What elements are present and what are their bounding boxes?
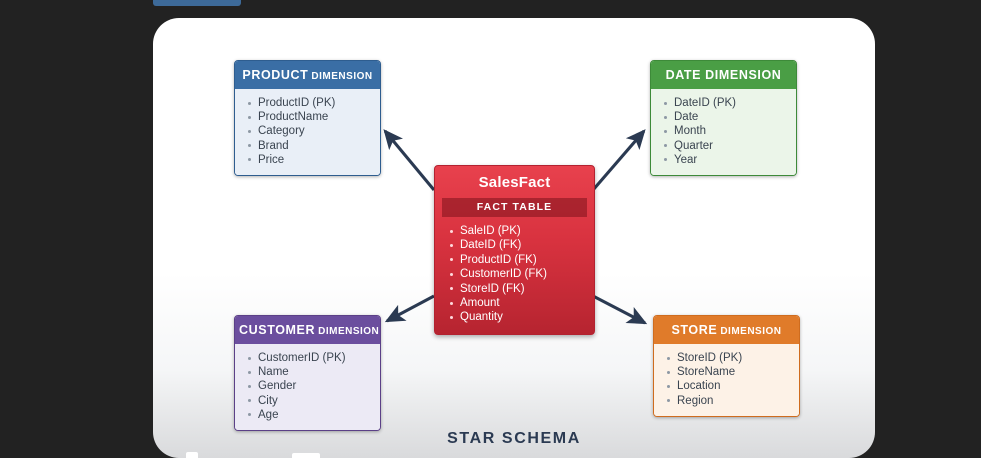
- fact-table-subheader: FACT TABLE: [442, 198, 587, 217]
- clipped-toolbar-tab[interactable]: [153, 0, 241, 6]
- slide-card: PRODUCTDIMENSION ProductID (PK) ProductN…: [153, 18, 875, 458]
- field-item: City: [247, 394, 372, 408]
- diagram-caption: STAR SCHEMA: [153, 430, 875, 448]
- field-item: Age: [247, 408, 372, 422]
- field-item: ProductID (FK): [449, 253, 586, 267]
- dimension-table-date[interactable]: DATE DIMENSION DateID (PK) Date Month Qu…: [650, 60, 797, 176]
- field-item: Brand: [247, 139, 372, 153]
- field-item: DateID (FK): [449, 238, 586, 252]
- field-item: Price: [247, 153, 372, 167]
- field-item: Year: [663, 153, 788, 167]
- field-item: Name: [247, 365, 372, 379]
- fact-table-title: SalesFact: [435, 166, 594, 198]
- field-item: Region: [666, 394, 791, 408]
- dimension-name-customer: CUSTOMER: [239, 323, 315, 337]
- dimension-body-store: StoreID (PK) StoreName Location Region: [654, 344, 799, 416]
- field-item: Gender: [247, 379, 372, 393]
- dimension-table-customer[interactable]: CUSTOMERDIMENSION CustomerID (PK) Name G…: [234, 315, 381, 431]
- dimension-table-product[interactable]: PRODUCTDIMENSION ProductID (PK) ProductN…: [234, 60, 381, 176]
- dimension-header-date: DATE DIMENSION: [651, 61, 796, 89]
- field-item: CustomerID (PK): [247, 351, 372, 365]
- field-item: StoreID (FK): [449, 282, 586, 296]
- dimension-name-store: STORE: [671, 323, 717, 337]
- field-item: ProductID (PK): [247, 96, 372, 110]
- dimension-table-store[interactable]: STOREDIMENSION StoreID (PK) StoreName Lo…: [653, 315, 800, 417]
- field-item: Amount: [449, 296, 586, 310]
- field-item: StoreID (PK): [666, 351, 791, 365]
- clipped-bottom-shape-right: [292, 453, 320, 458]
- field-item: DateID (PK): [663, 96, 788, 110]
- clipped-bottom-shape-left: [186, 452, 198, 458]
- dimension-body-date: DateID (PK) Date Month Quarter Year: [651, 89, 796, 175]
- connector-fact-to-customer: [387, 296, 434, 321]
- field-item: Category: [247, 124, 372, 138]
- field-item: Quantity: [449, 310, 586, 324]
- dimension-body-customer: CustomerID (PK) Name Gender City Age: [235, 344, 380, 430]
- fact-table-salesfact[interactable]: SalesFact FACT TABLE SaleID (PK) DateID …: [434, 165, 595, 335]
- field-item: ProductName: [247, 110, 372, 124]
- dimension-name-date: DATE DIMENSION: [666, 68, 782, 82]
- dimension-header-store: STOREDIMENSION: [654, 316, 799, 344]
- dimension-suffix-store: DIMENSION: [720, 326, 781, 337]
- connector-fact-to-product: [385, 131, 434, 190]
- connector-fact-to-store: [593, 296, 645, 323]
- field-item: SaleID (PK): [449, 224, 586, 238]
- dimension-suffix-product: DIMENSION: [311, 71, 372, 82]
- field-item: Date: [663, 110, 788, 124]
- dimension-suffix-customer: DIMENSION: [318, 326, 379, 337]
- dimension-header-product: PRODUCTDIMENSION: [235, 61, 380, 89]
- fact-table-body: SaleID (PK) DateID (FK) ProductID (FK) C…: [435, 217, 594, 334]
- field-item: StoreName: [666, 365, 791, 379]
- field-item: Month: [663, 124, 788, 138]
- dimension-body-product: ProductID (PK) ProductName Category Bran…: [235, 89, 380, 175]
- field-item: CustomerID (FK): [449, 267, 586, 281]
- field-item: Location: [666, 379, 791, 393]
- dimension-header-customer: CUSTOMERDIMENSION: [235, 316, 380, 344]
- dimension-name-product: PRODUCT: [242, 68, 308, 82]
- field-item: Quarter: [663, 139, 788, 153]
- connector-fact-to-date: [593, 131, 644, 190]
